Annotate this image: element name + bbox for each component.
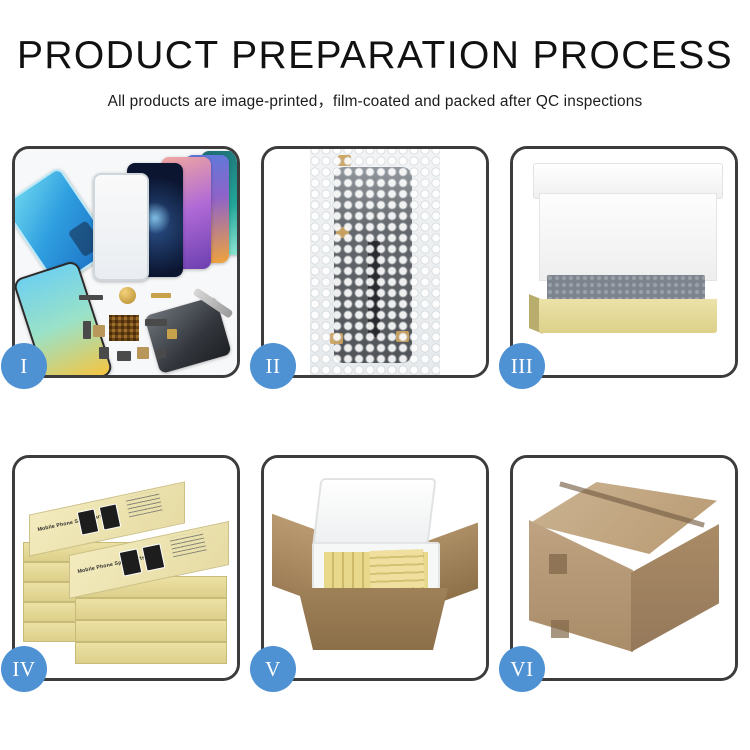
box-stack: Mobile Phone Spare Parts Mobile Phone Sp… [23, 480, 235, 670]
box-back-panel [539, 193, 717, 281]
process-step-3[interactable]: III [510, 146, 738, 378]
part-icon [99, 347, 109, 359]
step-4-image: Mobile Phone Spare Parts Mobile Phone Sp… [15, 458, 237, 678]
part-icon [137, 347, 149, 359]
screen-protector-icon [93, 173, 149, 281]
carton-body [298, 588, 448, 650]
ic-chip-icon [109, 315, 139, 341]
part-icon [79, 295, 103, 300]
product-preparation-infographic: PRODUCT PREPARATION PROCESS All products… [0, 0, 750, 750]
process-step-grid: I II [12, 146, 738, 681]
part-icon [93, 325, 105, 337]
step-6-badge: VI [499, 646, 545, 692]
process-step-6[interactable]: VI [510, 455, 738, 681]
spare-parts-cluster [79, 289, 199, 373]
step-3-badge: III [499, 343, 545, 389]
page-subtitle: All products are image-printed，film-coat… [0, 89, 750, 111]
packed-boxes-icon [369, 549, 424, 589]
step-2-badge: II [250, 343, 296, 389]
step-5-badge: V [250, 646, 296, 692]
step-5-image [264, 458, 486, 678]
foam-lid-icon [311, 478, 436, 552]
bubble-wrap-bag [310, 149, 440, 375]
page-title: PRODUCT PREPARATION PROCESS [0, 36, 750, 77]
process-step-1[interactable]: I [12, 146, 240, 378]
part-icon [117, 351, 131, 361]
process-step-5[interactable]: V [261, 455, 489, 681]
part-icon [157, 349, 166, 358]
part-icon [167, 329, 177, 339]
bubble-texture [310, 149, 440, 375]
header: PRODUCT PREPARATION PROCESS All products… [0, 36, 750, 111]
carton-tab [549, 554, 567, 574]
step-4-badge: IV [1, 646, 47, 692]
step-2-image [264, 149, 486, 375]
part-icon [83, 321, 91, 339]
speaker-part-icon [119, 287, 136, 304]
step-1-image [15, 149, 237, 375]
step-1-badge: I [1, 343, 47, 389]
part-icon [145, 319, 167, 326]
process-step-2[interactable]: II [261, 146, 489, 378]
step-3-image [513, 149, 735, 375]
part-icon [151, 293, 171, 298]
step-6-image [513, 458, 735, 678]
stacked-box [75, 620, 227, 642]
carton-tab [551, 620, 569, 638]
stacked-box [75, 598, 227, 620]
process-step-4[interactable]: Mobile Phone Spare Parts Mobile Phone Sp… [12, 455, 240, 681]
box-front-panel [539, 299, 717, 333]
stacked-box [75, 642, 227, 664]
